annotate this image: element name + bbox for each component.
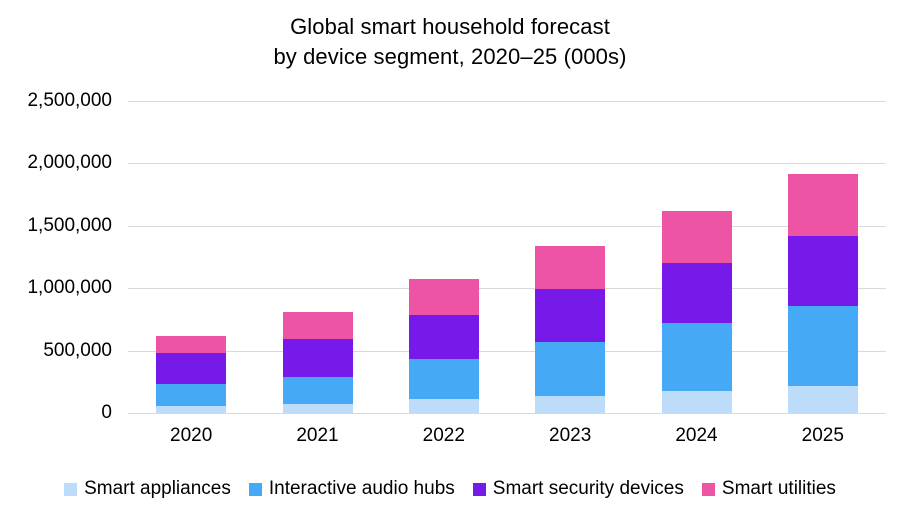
bar-segment[interactable] <box>156 406 226 413</box>
stacked-bar-chart: Global smart household forecast by devic… <box>0 0 900 525</box>
legend-item[interactable]: Interactive audio hubs <box>249 478 455 500</box>
bar-segment[interactable] <box>662 263 732 324</box>
bar-group-2023[interactable] <box>535 101 605 413</box>
bar-group-2024[interactable] <box>662 101 732 413</box>
bar-segment[interactable] <box>409 359 479 399</box>
bar-stack <box>788 174 858 413</box>
bar-group-2020[interactable] <box>156 101 226 413</box>
bar-stack <box>283 312 353 413</box>
x-tick-label-2023: 2023 <box>507 425 633 447</box>
chart-title-line-2: by device segment, 2020–25 (000s) <box>0 42 900 72</box>
bar-segment[interactable] <box>283 404 353 413</box>
x-axis-labels: 202020212022202320242025 <box>128 419 886 453</box>
bar-segment[interactable] <box>535 246 605 289</box>
legend-swatch-icon <box>473 483 486 496</box>
bar-segment[interactable] <box>409 399 479 413</box>
legend-label: Smart appliances <box>84 478 231 500</box>
axis-baseline <box>128 413 886 414</box>
y-tick-label: 1,500,000 <box>0 216 112 235</box>
bar-segment[interactable] <box>156 353 226 384</box>
bar-segment[interactable] <box>409 279 479 315</box>
y-tick-label: 0 <box>0 403 112 422</box>
legend-label: Interactive audio hubs <box>269 478 455 500</box>
bar-segment[interactable] <box>662 323 732 390</box>
bar-segment[interactable] <box>283 377 353 404</box>
bar-segment[interactable] <box>283 339 353 377</box>
bar-stack <box>156 336 226 413</box>
bar-segment[interactable] <box>535 289 605 341</box>
bar-stack <box>662 211 732 413</box>
bar-stack <box>409 279 479 413</box>
bar-segment[interactable] <box>788 174 858 236</box>
bar-group-2025[interactable] <box>788 101 858 413</box>
bar-segment[interactable] <box>535 396 605 413</box>
legend-swatch-icon <box>249 483 262 496</box>
legend-swatch-icon <box>64 483 77 496</box>
bar-segment[interactable] <box>788 236 858 306</box>
bar-segment[interactable] <box>662 211 732 262</box>
bar-segment[interactable] <box>283 312 353 339</box>
bar-segment[interactable] <box>156 336 226 353</box>
y-tick-label: 1,000,000 <box>0 278 112 297</box>
x-tick-label-2020: 2020 <box>128 425 254 447</box>
bar-stack <box>535 246 605 413</box>
x-tick-label-2025: 2025 <box>760 425 886 447</box>
legend-item[interactable]: Smart appliances <box>64 478 231 500</box>
y-tick-label: 2,500,000 <box>0 91 112 110</box>
bar-segment[interactable] <box>788 386 858 413</box>
legend-swatch-icon <box>702 483 715 496</box>
legend-label: Smart security devices <box>493 478 684 500</box>
bar-segment[interactable] <box>535 342 605 396</box>
chart-legend: Smart appliancesInteractive audio hubsSm… <box>0 478 900 500</box>
bar-group-2022[interactable] <box>409 101 479 413</box>
legend-item[interactable]: Smart utilities <box>702 478 836 500</box>
bar-group-2021[interactable] <box>283 101 353 413</box>
chart-title: Global smart household forecast by devic… <box>0 12 900 72</box>
y-tick-label: 500,000 <box>0 341 112 360</box>
x-tick-label-2024: 2024 <box>633 425 759 447</box>
bar-segment[interactable] <box>156 384 226 405</box>
bar-segment[interactable] <box>409 315 479 359</box>
x-tick-label-2021: 2021 <box>254 425 380 447</box>
legend-label: Smart utilities <box>722 478 836 500</box>
bar-segment[interactable] <box>662 391 732 413</box>
y-tick-label: 2,000,000 <box>0 153 112 172</box>
chart-title-line-1: Global smart household forecast <box>0 12 900 42</box>
bar-segment[interactable] <box>788 306 858 386</box>
y-axis-labels: 0500,0001,000,0001,500,0002,000,0002,500… <box>0 101 112 413</box>
bars-layer <box>128 101 886 413</box>
legend-item[interactable]: Smart security devices <box>473 478 684 500</box>
x-tick-label-2022: 2022 <box>381 425 507 447</box>
